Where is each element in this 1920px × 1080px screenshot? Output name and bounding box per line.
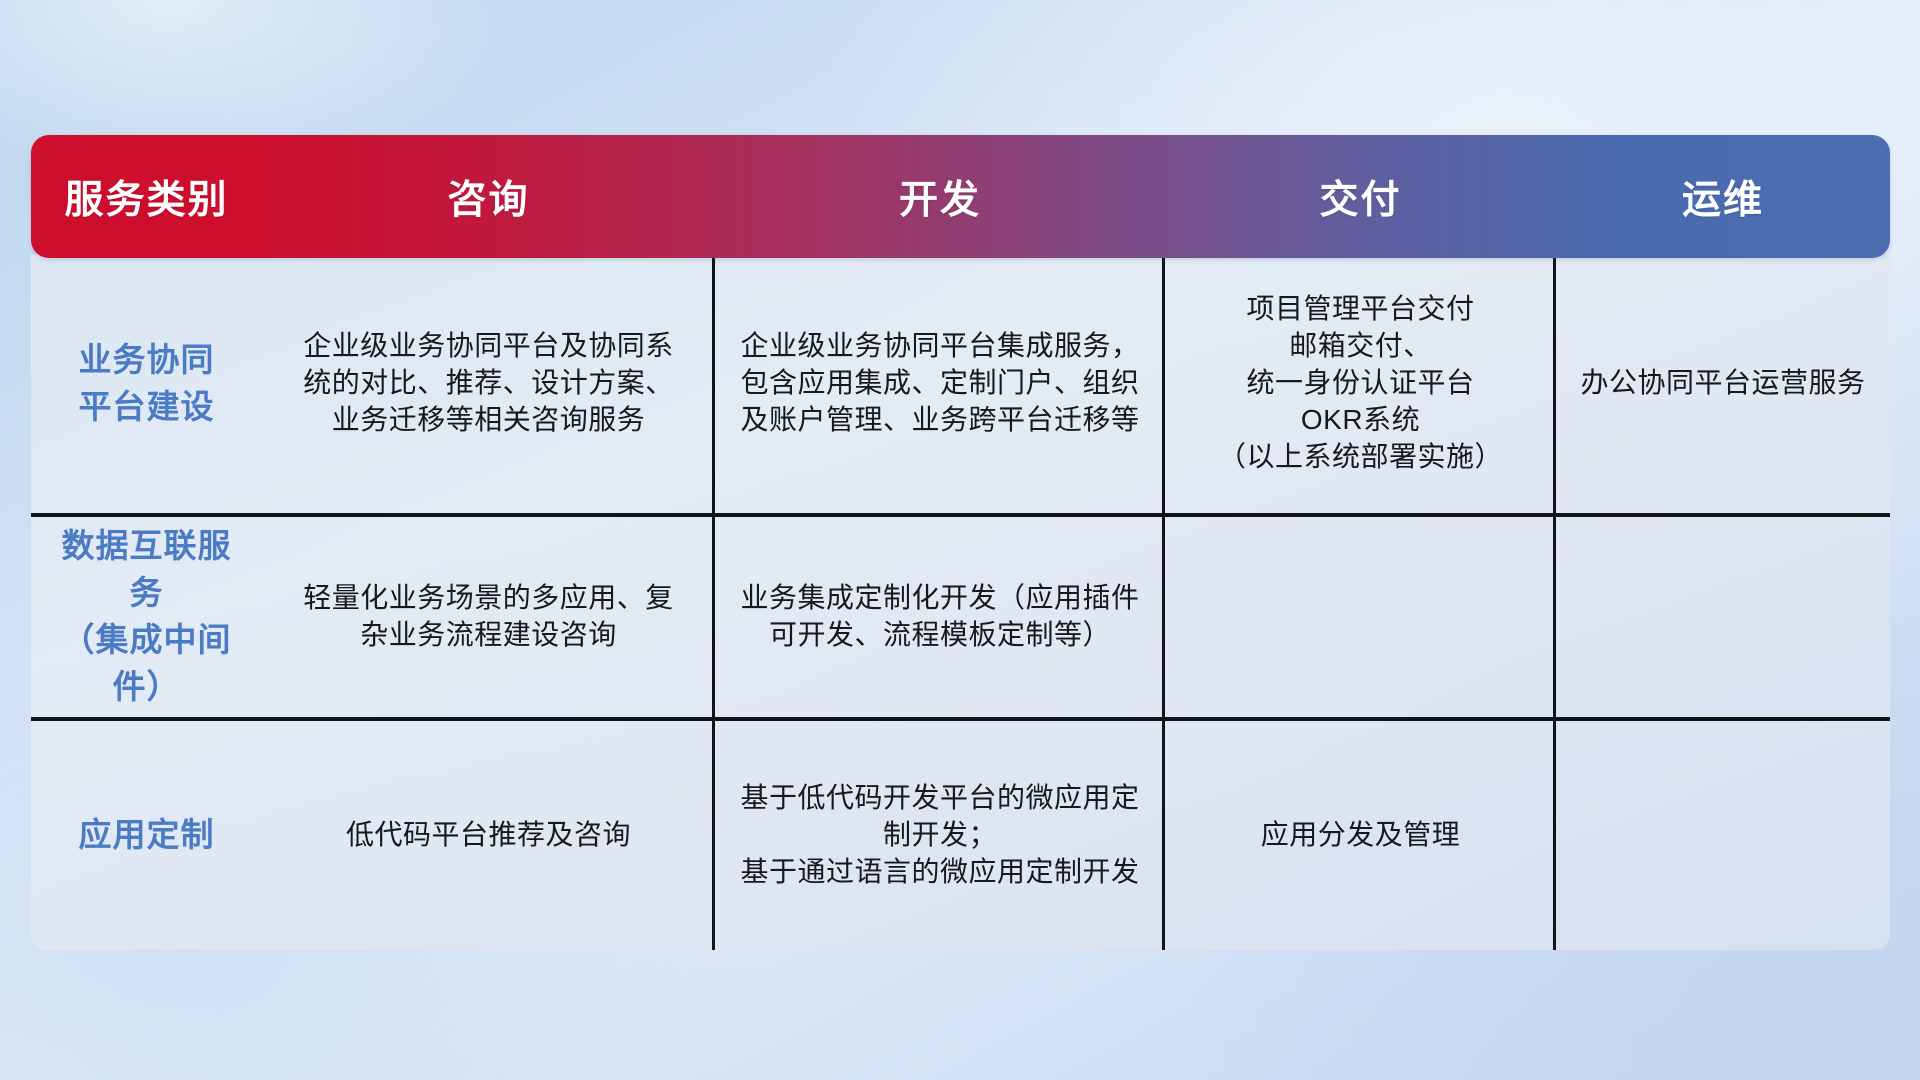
cell-operations (1556, 721, 1890, 950)
column-header-development: 开发 (715, 135, 1165, 258)
table-row: 业务协同 平台建设 企业级业务协同平台及协同系 统的对比、推荐、设计方案、 业务… (31, 254, 1890, 513)
slide-canvas: 服务类别 咨询 开发 交付 运维 业务协同 平台建设 企业级业务协同平台及协同系… (0, 0, 1920, 1080)
cell-development: 企业级业务协同平台集成服务， 包含应用集成、定制门户、组织 及账户管理、业务跨平… (715, 254, 1165, 513)
cell-development: 基于低代码开发平台的微应用定 制开发； 基于通过语言的微应用定制开发 (715, 721, 1165, 950)
cell-development: 业务集成定制化开发（应用插件 可开发、流程模板定制等） (715, 517, 1165, 717)
table-body: 业务协同 平台建设 企业级业务协同平台及协同系 统的对比、推荐、设计方案、 业务… (31, 254, 1890, 950)
column-header-delivery: 交付 (1165, 135, 1556, 258)
table-row: 数据互联服务 （集成中间件） 轻量化业务场景的多应用、复 杂业务流程建设咨询 业… (31, 513, 1890, 717)
column-header-consulting: 咨询 (262, 135, 715, 258)
cell-consulting: 低代码平台推荐及咨询 (262, 721, 715, 950)
table-row: 应用定制 低代码平台推荐及咨询 基于低代码开发平台的微应用定 制开发； 基于通过… (31, 717, 1890, 950)
service-matrix-table: 服务类别 咨询 开发 交付 运维 业务协同 平台建设 企业级业务协同平台及协同系… (31, 135, 1890, 951)
table-header-row: 服务类别 咨询 开发 交付 运维 (31, 135, 1890, 258)
cell-delivery: 应用分发及管理 (1165, 721, 1556, 950)
column-header-operations: 运维 (1556, 135, 1890, 258)
cell-consulting: 企业级业务协同平台及协同系 统的对比、推荐、设计方案、 业务迁移等相关咨询服务 (262, 254, 715, 513)
column-header-category: 服务类别 (31, 135, 262, 258)
row-category-label: 数据互联服务 （集成中间件） (31, 517, 262, 717)
cell-delivery: 项目管理平台交付 邮箱交付、 统一身份认证平台 OKR系统 （以上系统部署实施） (1165, 254, 1556, 513)
cell-operations (1556, 517, 1890, 717)
cell-delivery (1165, 517, 1556, 717)
cell-operations: 办公协同平台运营服务 (1556, 254, 1890, 513)
row-category-label: 应用定制 (31, 721, 262, 950)
row-category-label: 业务协同 平台建设 (31, 254, 262, 513)
cell-consulting: 轻量化业务场景的多应用、复 杂业务流程建设咨询 (262, 517, 715, 717)
